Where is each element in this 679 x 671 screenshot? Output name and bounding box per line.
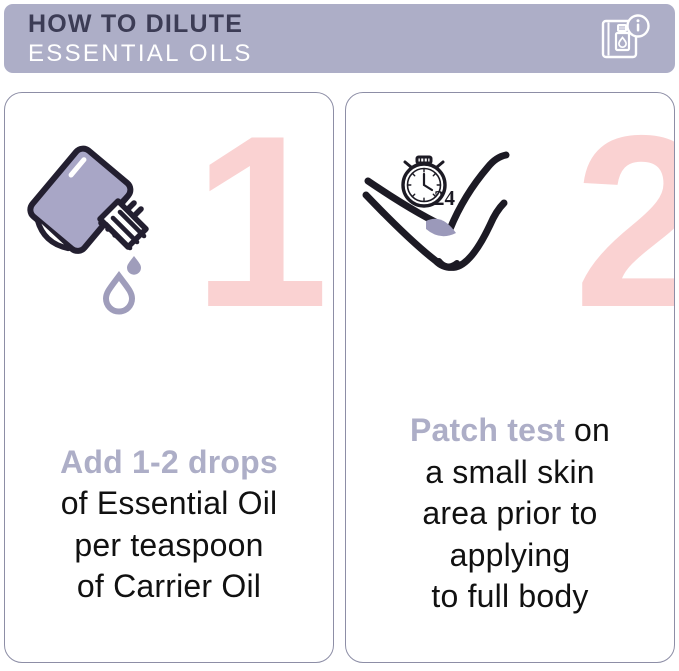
oil-bottle-info-icon xyxy=(599,13,651,65)
step-number-1: 1 xyxy=(193,99,323,344)
step-caption-2: Patch test on a small skin area prior to… xyxy=(346,410,674,618)
step-number-2: 2 xyxy=(574,99,675,344)
caption-line-1-3: of Carrier Oil xyxy=(13,566,325,608)
page-subtitle: ESSENTIAL OILS xyxy=(28,42,253,66)
caption-inline-rest-2: on xyxy=(565,412,610,448)
page-title: HOW TO DILUTE xyxy=(28,12,253,37)
arm-patch-test-stopwatch-icon: 24 xyxy=(354,133,564,303)
step-caption-1: Add 1-2 drops of Essential Oil per teasp… xyxy=(5,442,333,608)
caption-line-1-1: of Essential Oil xyxy=(13,483,325,525)
caption-line-2-3: applying xyxy=(354,535,666,577)
header-text-group: HOW TO DILUTE ESSENTIAL OILS xyxy=(28,12,253,66)
caption-highlight-2: Patch test xyxy=(410,412,565,448)
stopwatch-hours-label: 24 xyxy=(434,186,456,210)
step-card-2: 2 xyxy=(345,92,675,663)
caption-highlight-1: Add 1-2 drops xyxy=(60,444,278,480)
step-card-1: 1 xyxy=(4,92,334,663)
caption-line-1-2: per teaspoon xyxy=(13,525,325,567)
tilted-oil-bottle-with-drops-icon xyxy=(19,133,199,323)
caption-line-2-4: to full body xyxy=(354,576,666,618)
caption-line-2-1: a small skin xyxy=(354,452,666,494)
header-bar: HOW TO DILUTE ESSENTIAL OILS xyxy=(4,4,675,73)
caption-line-2-2: area prior to xyxy=(354,493,666,535)
infographic-root: HOW TO DILUTE ESSENTIAL OILS xyxy=(0,0,679,671)
